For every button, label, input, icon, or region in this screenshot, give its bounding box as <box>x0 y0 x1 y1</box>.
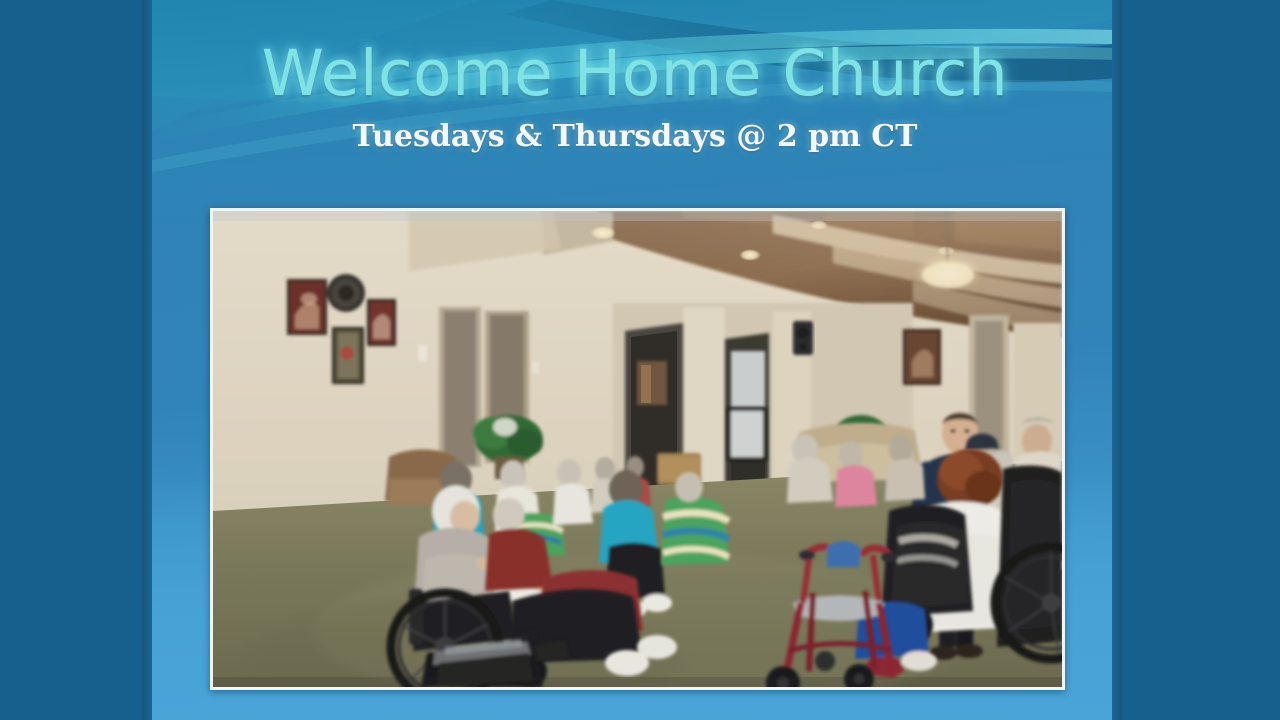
photo-frame: A man in a navy polo shirt stands holdin… <box>210 208 1065 690</box>
worship-service-photo: A man in a navy polo shirt stands holdin… <box>213 211 1062 687</box>
presentation-slide: Welcome Home Church Tuesdays & Thursdays… <box>152 0 1118 720</box>
title-block: Welcome Home Church Tuesdays & Thursdays… <box>152 42 1118 153</box>
letterbox-bar-right <box>1118 0 1280 720</box>
letterbox-edge-left <box>142 0 152 720</box>
letterbox-edge-right <box>1112 0 1122 720</box>
slide-stage: Welcome Home Church Tuesdays & Thursdays… <box>0 0 1280 720</box>
page-title: Welcome Home Church <box>152 42 1118 106</box>
letterbox-bar-left <box>0 0 152 720</box>
slide-subtitle: Tuesdays & Thursdays @ 2 pm CT <box>152 120 1118 153</box>
